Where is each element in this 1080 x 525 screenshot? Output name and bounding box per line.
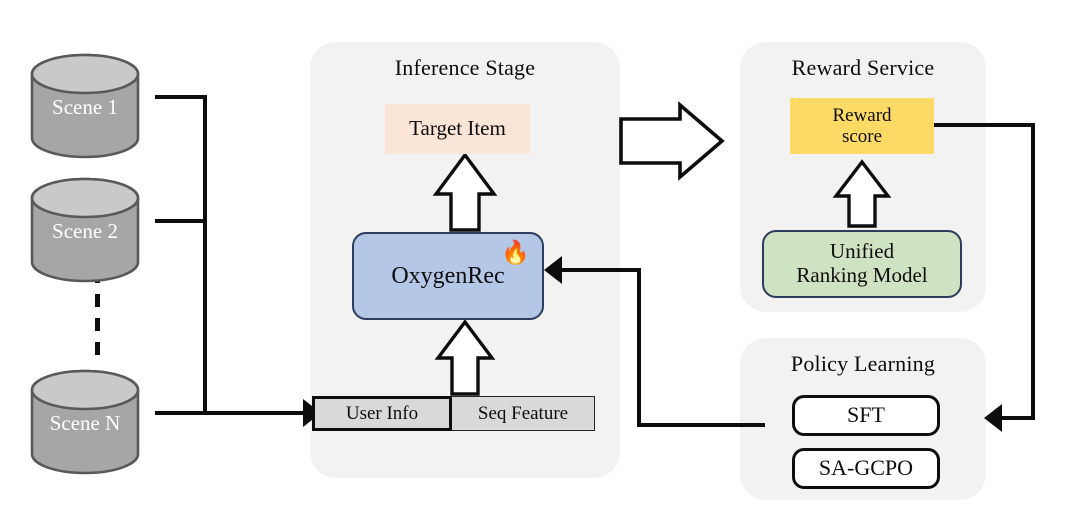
wire-reward-to-policy-vertical (1031, 123, 1035, 418)
wire-scene-bus-vertical (203, 95, 207, 415)
unified-ranking-model-box[interactable]: Unified Ranking Model (762, 230, 962, 298)
wire-policy-to-model-horizontal-top (560, 268, 640, 272)
scene-continuation-dashes (95, 270, 100, 366)
wire-scene1-stub (155, 95, 207, 99)
feature-cell-user-info: User Info (312, 396, 452, 431)
reward-service-title: Reward Service (740, 55, 986, 81)
wire-scene2-stub (155, 219, 207, 223)
policy-method-sft-label: SFT (847, 403, 885, 428)
policy-learning-title: Policy Learning (740, 351, 986, 377)
unified-ranking-model-line1: Unified (830, 240, 894, 264)
reward-score-box: Reward score (790, 98, 934, 154)
reward-score-line2: score (842, 126, 882, 147)
target-item-box: Target Item (385, 104, 530, 154)
inference-stage-title: Inference Stage (310, 55, 620, 81)
feature-cell-user-info-label: User Info (346, 403, 418, 425)
wire-bus-to-user-info (203, 411, 303, 415)
wire-policy-to-model-horizontal-bottom (637, 423, 765, 427)
feature-cell-seq-feature: Seq Feature (452, 396, 595, 431)
policy-method-sft[interactable]: SFT (792, 395, 940, 436)
policy-method-sa-gcpo[interactable]: SA-GCPO (792, 448, 940, 489)
oxygenrec-label: OxygenRec (391, 263, 504, 290)
fire-emoji-icon: 🔥 (501, 242, 530, 265)
wire-reward-to-policy-horizontal-bottom (1000, 416, 1035, 420)
oxygenrec-box[interactable]: OxygenRec 🔥 (352, 232, 544, 320)
wire-reward-to-policy-horizontal-top (928, 123, 1035, 127)
cylinder-label-scene-1: Scene 1 (32, 95, 138, 120)
hollow-arrow-inference-to-reward (621, 105, 722, 177)
wire-sceneN-stub (155, 411, 207, 415)
target-item-label: Target Item (409, 117, 506, 141)
policy-method-sa-gcpo-label: SA-GCPO (819, 456, 913, 481)
unified-ranking-model-line2: Ranking Model (796, 264, 927, 288)
reward-score-line1: Reward (832, 105, 891, 126)
feature-cell-seq-feature-label: Seq Feature (478, 403, 568, 425)
cylinder-label-scene-2: Scene 2 (32, 219, 138, 244)
cylinder-label-scene-n: Scene N (32, 411, 138, 436)
wire-policy-to-model-vertical (637, 268, 641, 427)
diagram-canvas: Scene 1 Scene 2 Scene N Inference Stage … (0, 0, 1080, 525)
